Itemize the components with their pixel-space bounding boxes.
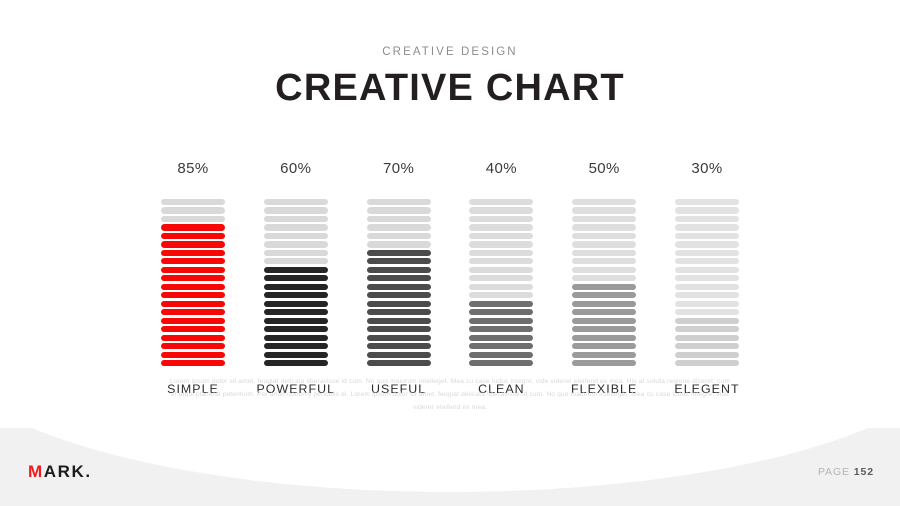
bar-segment-empty <box>469 241 533 247</box>
bar-segment-filled <box>572 335 636 341</box>
bar-segment-filled <box>264 335 328 341</box>
bar-segment-filled <box>367 301 431 307</box>
footer-band <box>0 428 900 506</box>
bar-segment-empty <box>675 233 739 239</box>
bar-segment-empty <box>469 292 533 298</box>
bar-segment-empty <box>469 233 533 239</box>
bar-segment-empty <box>675 284 739 290</box>
bar-segment-empty <box>572 224 636 230</box>
bar-segment-filled <box>161 301 225 307</box>
segment-stack <box>675 199 739 366</box>
bar-segment-filled <box>161 284 225 290</box>
chart-column: 30%ELEGENT <box>662 160 752 396</box>
bar-segment-filled <box>264 301 328 307</box>
segment-stack <box>264 199 328 366</box>
bar-segment-filled <box>161 352 225 358</box>
bar-segment-empty <box>367 241 431 247</box>
bar-segment-empty <box>572 275 636 281</box>
bar-segment-filled <box>469 335 533 341</box>
bar-segment-filled <box>367 292 431 298</box>
bar-segment-filled <box>367 250 431 256</box>
bar-segment-empty <box>264 250 328 256</box>
bar-segment-filled <box>264 352 328 358</box>
bar-segment-empty <box>675 258 739 264</box>
bar-segment-filled <box>469 301 533 307</box>
percentage-label: 70% <box>383 160 414 177</box>
bar-segment-filled <box>161 267 225 273</box>
brand-logo[interactable]: MARK. <box>28 462 92 482</box>
bar-segment-empty <box>675 250 739 256</box>
bar-segment-filled <box>572 360 636 366</box>
bar-segment-filled <box>264 275 328 281</box>
bar-segment-empty <box>264 233 328 239</box>
bar-segment-filled <box>469 326 533 332</box>
bar-segment-empty <box>469 275 533 281</box>
bar-segment-filled <box>675 352 739 358</box>
bar-segment-filled <box>572 309 636 315</box>
bar-segment-filled <box>367 352 431 358</box>
bar-segment-filled <box>675 343 739 349</box>
chart-column: 60%POWERFUL <box>251 160 341 396</box>
bar-segment-filled <box>367 360 431 366</box>
bar-segment-empty <box>469 284 533 290</box>
percentage-label: 60% <box>280 160 311 177</box>
bar-segment-filled <box>264 309 328 315</box>
bar-segment-filled <box>161 275 225 281</box>
bar-segment-empty <box>675 207 739 213</box>
bar-segment-empty <box>572 207 636 213</box>
percentage-label: 30% <box>691 160 722 177</box>
bar-segment-filled <box>572 318 636 324</box>
bar-segment-empty <box>675 309 739 315</box>
bar-segment-empty <box>675 292 739 298</box>
bar-segment-filled <box>161 318 225 324</box>
bar-segment-empty <box>675 216 739 222</box>
bar-segment-empty <box>675 267 739 273</box>
page-number-value: 152 <box>854 466 874 478</box>
bar-segment-filled <box>161 258 225 264</box>
bar-segment-empty <box>469 216 533 222</box>
bar-segment-filled <box>367 284 431 290</box>
logo-rest: ARK. <box>44 462 92 481</box>
bar-segment-empty <box>367 224 431 230</box>
bar-segment-filled <box>264 284 328 290</box>
bar-segment-filled <box>469 360 533 366</box>
bar-segment-filled <box>161 250 225 256</box>
bar-segment-empty <box>469 207 533 213</box>
bar-segment-filled <box>675 360 739 366</box>
bar-segment-filled <box>572 326 636 332</box>
bar-segment-filled <box>675 326 739 332</box>
bar-segment-filled <box>264 318 328 324</box>
bar-segment-filled <box>469 343 533 349</box>
segment-stack <box>161 199 225 366</box>
bar-segment-empty <box>264 224 328 230</box>
bar-segment-empty <box>572 250 636 256</box>
bar-segment-empty <box>572 258 636 264</box>
bar-segment-empty <box>469 267 533 273</box>
chart-column: 40%CLEAN <box>456 160 546 396</box>
bar-segment-filled <box>675 318 739 324</box>
bar-segment-filled <box>367 309 431 315</box>
bar-segment-empty <box>367 233 431 239</box>
page-title: CREATIVE CHART <box>0 67 900 110</box>
bar-segment-filled <box>572 343 636 349</box>
page-number: PAGE 152 <box>818 466 874 478</box>
bar-segment-filled <box>161 241 225 247</box>
page-label: PAGE <box>818 466 850 478</box>
slide-canvas: CREATIVE DESIGN CREATIVE CHART 85%SIMPLE… <box>0 0 900 506</box>
segmented-bar-chart: 85%SIMPLE60%POWERFUL70%USEFUL40%CLEAN50%… <box>148 160 752 396</box>
bar-segment-filled <box>367 267 431 273</box>
bar-segment-empty <box>264 258 328 264</box>
logo-accent-letter: M <box>28 462 44 481</box>
bar-segment-empty <box>161 216 225 222</box>
bar-segment-empty <box>264 241 328 247</box>
bar-segment-filled <box>161 292 225 298</box>
bar-segment-filled <box>367 343 431 349</box>
bar-segment-filled <box>572 284 636 290</box>
eyebrow-text: CREATIVE DESIGN <box>0 46 900 58</box>
bar-segment-filled <box>675 335 739 341</box>
bar-segment-filled <box>469 352 533 358</box>
bar-segment-filled <box>264 326 328 332</box>
bar-segment-empty <box>469 199 533 205</box>
bar-segment-filled <box>367 275 431 281</box>
chart-column: 85%SIMPLE <box>148 160 238 396</box>
bar-segment-empty <box>675 301 739 307</box>
bar-segment-empty <box>572 241 636 247</box>
bar-segment-empty <box>264 199 328 205</box>
bar-segment-filled <box>367 335 431 341</box>
bar-segment-empty <box>367 207 431 213</box>
segment-stack <box>469 199 533 366</box>
bar-segment-empty <box>469 250 533 256</box>
bar-segment-filled <box>572 301 636 307</box>
bar-segment-filled <box>161 343 225 349</box>
bar-segment-filled <box>264 360 328 366</box>
bar-segment-empty <box>675 224 739 230</box>
bar-segment-empty <box>469 258 533 264</box>
bar-segment-empty <box>367 216 431 222</box>
bar-segment-filled <box>264 267 328 273</box>
bar-segment-empty <box>264 207 328 213</box>
bar-segment-filled <box>572 292 636 298</box>
bar-segment-filled <box>367 326 431 332</box>
footer-curve-divider <box>0 428 900 492</box>
bar-segment-empty <box>675 241 739 247</box>
bar-segment-filled <box>572 352 636 358</box>
bar-segment-empty <box>367 199 431 205</box>
bar-segment-empty <box>675 275 739 281</box>
segment-stack <box>367 199 431 366</box>
body-paragraph: Lorem ipsum dolor sit amet, feugiat deli… <box>168 376 732 414</box>
bar-segment-filled <box>161 326 225 332</box>
bar-segment-filled <box>161 233 225 239</box>
bar-segment-filled <box>264 343 328 349</box>
bar-segment-filled <box>367 258 431 264</box>
bar-segment-empty <box>572 199 636 205</box>
slide-header: CREATIVE DESIGN CREATIVE CHART <box>0 46 900 110</box>
bar-segment-empty <box>675 199 739 205</box>
percentage-label: 50% <box>589 160 620 177</box>
bar-segment-filled <box>161 360 225 366</box>
bar-segment-empty <box>161 199 225 205</box>
bar-segment-filled <box>367 318 431 324</box>
bar-segment-empty <box>264 216 328 222</box>
bar-segment-filled <box>469 318 533 324</box>
percentage-label: 85% <box>177 160 208 177</box>
segment-stack <box>572 199 636 366</box>
bar-segment-empty <box>469 224 533 230</box>
bar-segment-filled <box>161 309 225 315</box>
chart-column: 50%FLEXIBLE <box>559 160 649 396</box>
bar-segment-filled <box>469 309 533 315</box>
bar-segment-empty <box>572 267 636 273</box>
chart-column: 70%USEFUL <box>354 160 444 396</box>
bar-segment-filled <box>161 335 225 341</box>
bar-segment-empty <box>572 233 636 239</box>
bar-segment-empty <box>572 216 636 222</box>
percentage-label: 40% <box>486 160 517 177</box>
bar-segment-empty <box>161 207 225 213</box>
bar-segment-filled <box>264 292 328 298</box>
bar-segment-filled <box>161 224 225 230</box>
